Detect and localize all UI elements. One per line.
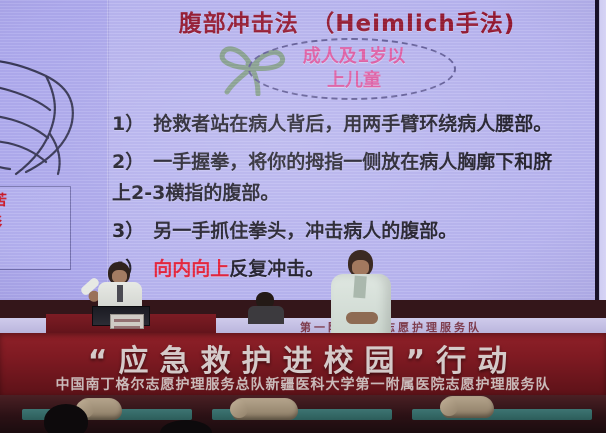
main-banner: “应急救护进校园”行动 中国南丁格尔志愿护理服务总队新疆医科大学第一附属医院志愿… [0, 333, 606, 395]
list-item: 1）抢救者站在病人背后，用两手臂环绕病人腰部。 [112, 112, 582, 137]
training-mat [412, 409, 592, 420]
name-placard [110, 314, 144, 329]
face [352, 260, 369, 275]
step-number: 2） [112, 151, 144, 173]
adjacent-slide-line: ch征象 [0, 236, 70, 259]
callout-oval: 成人及1岁以 上儿童 [214, 36, 460, 102]
anatomy-line-drawing-icon [0, 38, 109, 188]
second-seated-person [246, 292, 286, 322]
list-item: 3）另一手抓住拳头，冲击病人的腹部。 [112, 219, 582, 244]
cpr-training-manikin [232, 398, 298, 420]
torso [248, 306, 284, 324]
callout-line-2: 上儿童 [327, 70, 381, 91]
adjacent-slide-textbox: 窒息痛苦 部，v形 ch征象 [0, 186, 71, 270]
adjacent-slide-line: 窒息痛苦 [0, 190, 70, 213]
page-title: 腹部冲击法 （Heimlich手法) [112, 4, 582, 38]
step-text: 反复冲击。 [229, 258, 324, 280]
cpr-training-manikin [442, 396, 494, 418]
audience-head [44, 404, 88, 433]
necktie [117, 285, 123, 302]
step-text: 抢救者站在病人背后，用两手臂环绕病人腰部。 [153, 113, 552, 135]
callout-text: 成人及1岁以 上儿童 [274, 45, 434, 93]
manikin-head [440, 398, 458, 416]
main-banner-subtitle: 中国南丁格尔志愿护理服务总队新疆医科大学第一附属医院志愿护理服务队 [0, 374, 606, 394]
manikin-head [230, 400, 248, 418]
adjacent-slide-line: 部，v形 [0, 213, 70, 236]
list-item: 2）一手握拳，将你的拇指一侧放在病人胸廓下和脐 上2-3横指的腹部。 [112, 150, 582, 206]
step-text: 一手握拳，将你的拇指一侧放在病人胸廓下和脐 [153, 151, 552, 173]
step-text: 另一手抓住拳头，冲击病人的腹部。 [153, 220, 457, 242]
clasped-hands-fist [346, 312, 378, 324]
step-text-continued: 上2-3横指的腹部。 [112, 181, 582, 206]
step-number: 3） [112, 220, 144, 242]
step-number: 1） [112, 113, 144, 135]
coat-lapel [353, 276, 367, 299]
callout-line-1: 成人及1岁以 [303, 46, 406, 67]
screen-right-edge [595, 0, 606, 345]
seated-instructor-at-table [74, 262, 170, 322]
photo-frame: 腹部冲击法 （Heimlich手法) 成人及1岁以 上儿童 1）抢救 [0, 0, 606, 433]
